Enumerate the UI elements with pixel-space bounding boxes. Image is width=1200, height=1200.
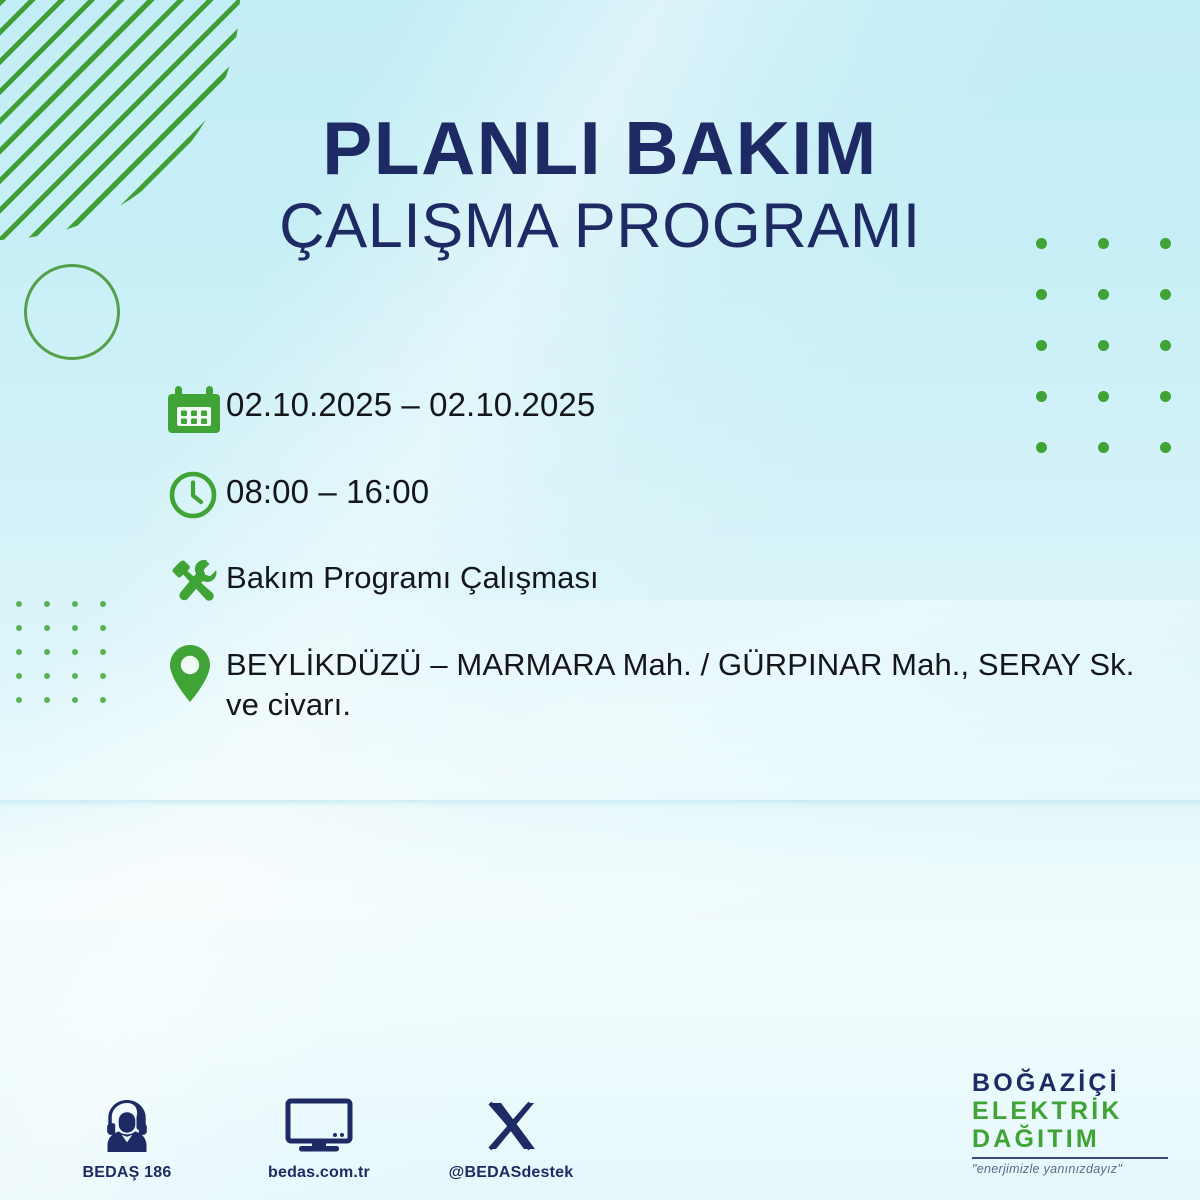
brand-line-dagitim: DAĞITIM	[972, 1125, 1182, 1153]
maintenance-details: 02.10.2025 – 02.10.2025 08:00 – 16:00	[168, 381, 1168, 724]
planned-maintenance-poster: PLANLI BAKIM ÇALIŞMA PROGRAMI	[0, 0, 1200, 1200]
detail-row-date: 02.10.2025 – 02.10.2025	[168, 381, 1168, 437]
work-type-text: Bakım Programı Çalışması	[226, 555, 599, 598]
contact-x[interactable]: @BEDASdestek	[442, 1092, 580, 1182]
detail-row-time: 08:00 – 16:00	[168, 468, 1168, 524]
dot-grid-left-decoration	[16, 601, 106, 703]
background-horizon-band	[0, 800, 1200, 810]
contact-phone-label: BEDAŞ 186	[58, 1164, 196, 1182]
page-title: PLANLI BAKIM	[0, 112, 1200, 186]
contact-website[interactable]: bedas.com.tr	[250, 1092, 388, 1182]
brand-line-elektrik: ELEKTRİK	[972, 1097, 1182, 1125]
location-pin-icon	[168, 642, 226, 698]
brand-tagline: "enerjimizle yanınızdayız"	[972, 1162, 1182, 1176]
clock-icon	[168, 468, 226, 524]
detail-row-location: BEYLİKDÜZÜ – MARMARA Mah. / GÜRPINAR Mah…	[168, 642, 1168, 724]
poster-header: PLANLI BAKIM ÇALIŞMA PROGRAMI	[0, 112, 1200, 258]
brand-line-bogazici: BOĞAZİÇİ	[972, 1069, 1182, 1097]
location-text: BEYLİKDÜZÜ – MARMARA Mah. / GÜRPINAR Mah…	[226, 642, 1168, 724]
brand-divider	[972, 1157, 1168, 1159]
date-range-text: 02.10.2025 – 02.10.2025	[226, 381, 595, 426]
footer-contacts: BEDAŞ 186 bedas.com.tr	[58, 1092, 580, 1182]
x-logo-icon	[442, 1092, 580, 1154]
tools-icon	[168, 555, 226, 611]
detail-row-work-type: Bakım Programı Çalışması	[168, 555, 1168, 611]
call-center-operator-icon	[58, 1092, 196, 1154]
monitor-icon	[250, 1092, 388, 1154]
contact-phone[interactable]: BEDAŞ 186	[58, 1092, 196, 1182]
time-range-text: 08:00 – 16:00	[226, 468, 429, 513]
contact-website-label: bedas.com.tr	[250, 1164, 388, 1182]
calendar-icon	[168, 381, 226, 437]
brand-logo: BOĞAZİÇİ ELEKTRİK DAĞITIM "enerjimizle y…	[972, 1069, 1182, 1176]
contact-x-label: @BEDASdestek	[442, 1164, 580, 1182]
page-subtitle: ÇALIŞMA PROGRAMI	[0, 195, 1200, 258]
circle-outline-decoration	[24, 264, 120, 360]
